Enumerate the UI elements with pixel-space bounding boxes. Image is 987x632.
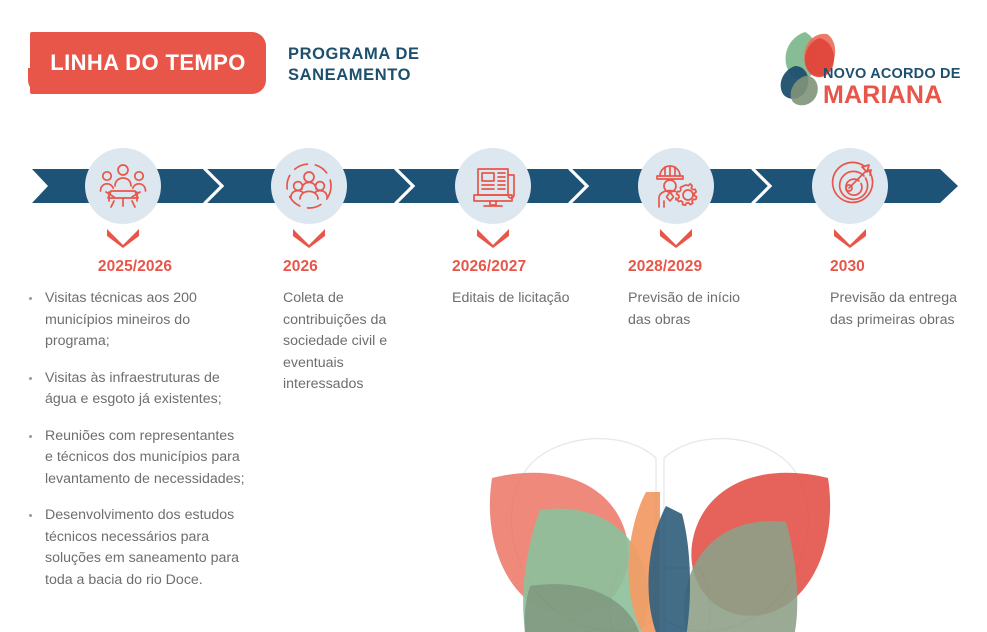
list-item: Desenvolvimento dos estudos técnicos nec… <box>24 505 246 591</box>
timeline-column-2: 2026 Coleta de contribuições da sociedad… <box>283 258 411 396</box>
column-year: 2026/2027 <box>452 258 582 276</box>
logo-line-1: NOVO ACORDO DE <box>823 66 968 82</box>
column-text: Coleta de contribuições da sociedade civ… <box>283 288 411 396</box>
timeline-node-3[interactable] <box>455 148 531 224</box>
column-bullet-list: Visitas técnicas aos 200 municípios mine… <box>24 288 246 591</box>
page-subtitle: PROGRAMA DE SANEAMENTO <box>288 44 420 86</box>
header: LINHA DO TEMPO PROGRAMA DE SANEAMENTO NO… <box>0 0 987 130</box>
timeline-column-1: 2025/2026 Visitas técnicas aos 200 munic… <box>24 258 246 591</box>
badge-label: LINHA DO TEMPO <box>30 32 266 94</box>
timeline-column-4: 2028/2029 Previsão de início das obras <box>628 258 758 331</box>
timeline-column-3: 2026/2027 Editais de licitação <box>452 258 582 310</box>
timeline-node-5[interactable] <box>812 148 888 224</box>
chevron-marker-3 <box>476 228 510 248</box>
column-text: Previsão de início das obras <box>628 288 758 331</box>
timeline-column-5: 2030 Previsão da entrega das primeiras o… <box>830 258 962 331</box>
timeline-node-4[interactable] <box>638 148 714 224</box>
column-year: 2028/2029 <box>628 258 758 276</box>
column-year: 2025/2026 <box>24 258 246 276</box>
logo-line-2: MARIANA <box>823 82 968 109</box>
timeline-node-2[interactable] <box>271 148 347 224</box>
column-text: Previsão da entrega das primeiras obras <box>830 288 962 331</box>
newspaper-monitor-icon <box>468 161 518 211</box>
column-text: Editais de licitação <box>452 288 582 310</box>
logo-text: NOVO ACORDO DE MARIANA <box>823 66 968 109</box>
timeline-node-1[interactable] <box>85 148 161 224</box>
logo: NOVO ACORDO DE MARIANA <box>775 28 965 110</box>
column-year: 2030 <box>830 258 962 276</box>
infographic-page: LINHA DO TEMPO PROGRAMA DE SANEAMENTO NO… <box>0 0 987 632</box>
people-meeting-icon <box>98 161 148 211</box>
linha-do-tempo-badge: LINHA DO TEMPO <box>30 32 266 94</box>
target-dart-icon <box>825 161 875 211</box>
chevron-marker-4 <box>659 228 693 248</box>
column-year: 2026 <box>283 258 411 276</box>
worker-gear-icon <box>651 161 701 211</box>
chevron-marker-1 <box>106 228 140 248</box>
list-item: Reuniões com representantes e técnicos d… <box>24 426 246 491</box>
list-item: Visitas técnicas aos 200 municípios mine… <box>24 288 246 353</box>
people-group-circle-icon <box>284 161 334 211</box>
butterfly-watermark <box>470 418 850 632</box>
list-item: Visitas às infraestruturas de água e esg… <box>24 368 246 411</box>
chevron-marker-2 <box>292 228 326 248</box>
chevron-marker-5 <box>833 228 867 248</box>
